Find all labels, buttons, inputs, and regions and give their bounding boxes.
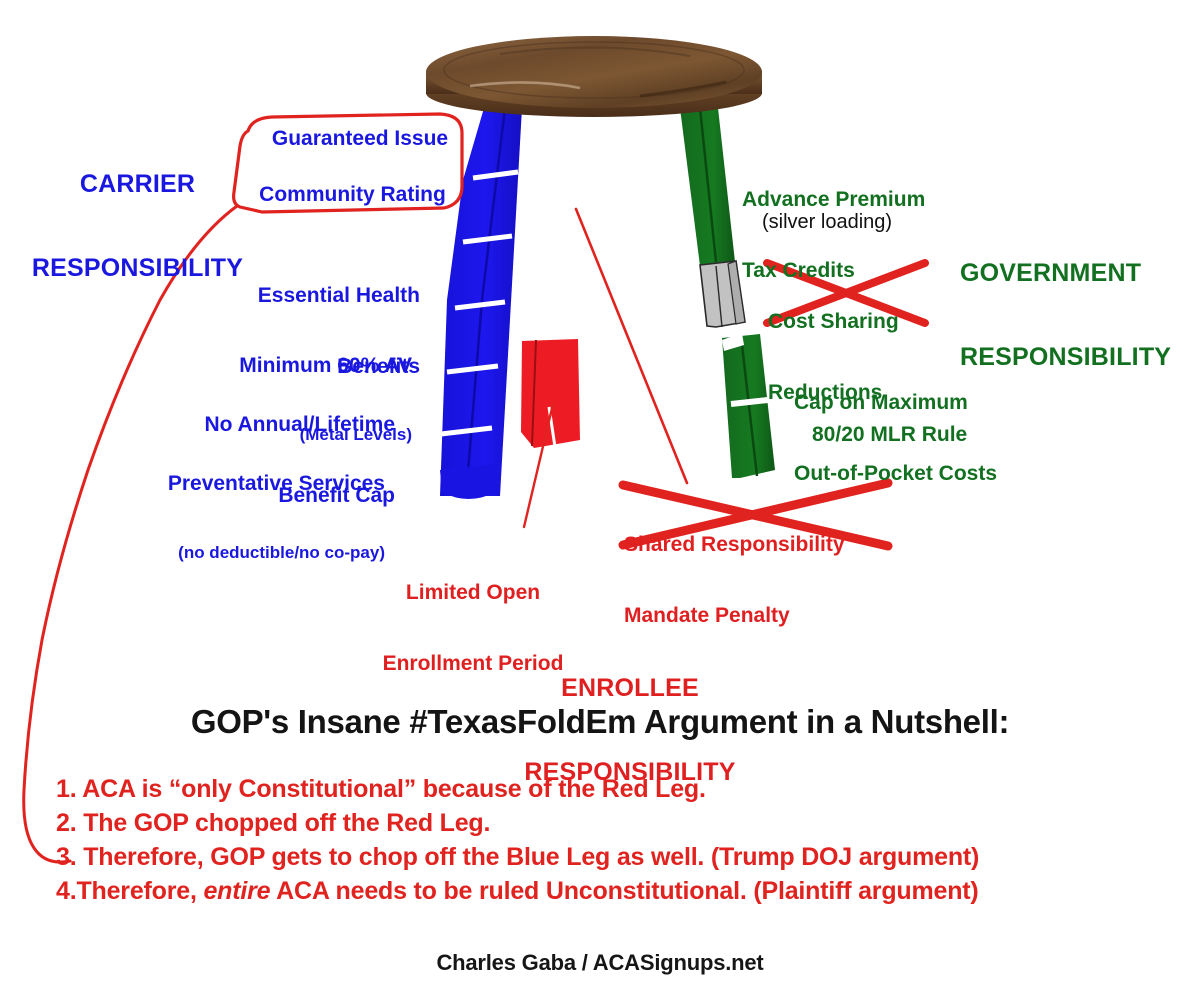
silver-loading-annotation: (silver loading) [762, 211, 962, 233]
mandate-pointer-line [576, 209, 687, 483]
infographic-canvas: CARRIER RESPONSIBILITY Guaranteed Issue … [0, 0, 1200, 1000]
government-item-line2: Out-of-Pocket Costs [794, 462, 1074, 486]
page-title: GOP's Insane #TexasFoldEm Argument in a … [60, 703, 1140, 741]
government-item-line1: Cost Sharing [768, 310, 998, 334]
government-item-line1: Cap on Maximum [794, 391, 1074, 415]
argument-item: 4.Therefore, entire ACA needs to be rule… [56, 877, 1186, 906]
argument-list: 1. ACA is “only Constitutional” because … [56, 775, 1186, 906]
argument-text: Therefore, GOP gets to chop off the Blue… [83, 843, 979, 871]
argument-text: The GOP chopped off the Red Leg. [83, 809, 490, 837]
carrier-item-preventative-services: Preventative Services (no deductible/no … [110, 425, 385, 609]
enrollee-item-line1: Limited Open [368, 581, 578, 605]
enrollee-item-line1: Shared Responsibility [624, 533, 914, 557]
government-item-line1: Advance Premium [742, 188, 1002, 212]
red-leg-stub [521, 339, 580, 448]
argument-number: 1. [56, 775, 76, 803]
credit-line: Charles Gaba / ACASignups.net [300, 950, 900, 976]
carrier-item-guaranteed-issue: Guaranteed Issue [265, 127, 455, 151]
carrier-item-line1: Preventative Services [110, 472, 385, 496]
stool-seat [426, 36, 762, 117]
enrollee-heading-line1: ENROLLEE [500, 674, 760, 702]
argument-text-post: ACA needs to be ruled Unconstitutional. … [270, 877, 978, 905]
argument-number: 2. [56, 809, 76, 837]
silver-loading-block [700, 261, 745, 327]
red-leg-pointer-line [524, 404, 553, 527]
carrier-item-line1: Essential Health [148, 284, 420, 308]
blue-leg [440, 108, 522, 499]
carrier-item-sub: (no deductible/no co-pay) [110, 543, 385, 562]
government-item-mlr-rule: 80/20 MLR Rule [812, 423, 1042, 447]
argument-text: ACA is “only Constitutional” because of … [82, 775, 705, 803]
argument-item: 2. The GOP chopped off the Red Leg. [56, 809, 1186, 838]
carrier-item-community-rating: Community Rating [250, 183, 455, 207]
argument-number: 4. [56, 877, 76, 905]
argument-item: 3. Therefore, GOP gets to chop off the B… [56, 843, 1186, 872]
carrier-heading-line1: CARRIER [30, 170, 245, 198]
argument-text-pre: Therefore, [76, 877, 203, 905]
argument-number: 3. [56, 843, 76, 871]
argument-item: 1. ACA is “only Constitutional” because … [56, 775, 1186, 804]
argument-text-emphasis: entire [203, 877, 270, 905]
